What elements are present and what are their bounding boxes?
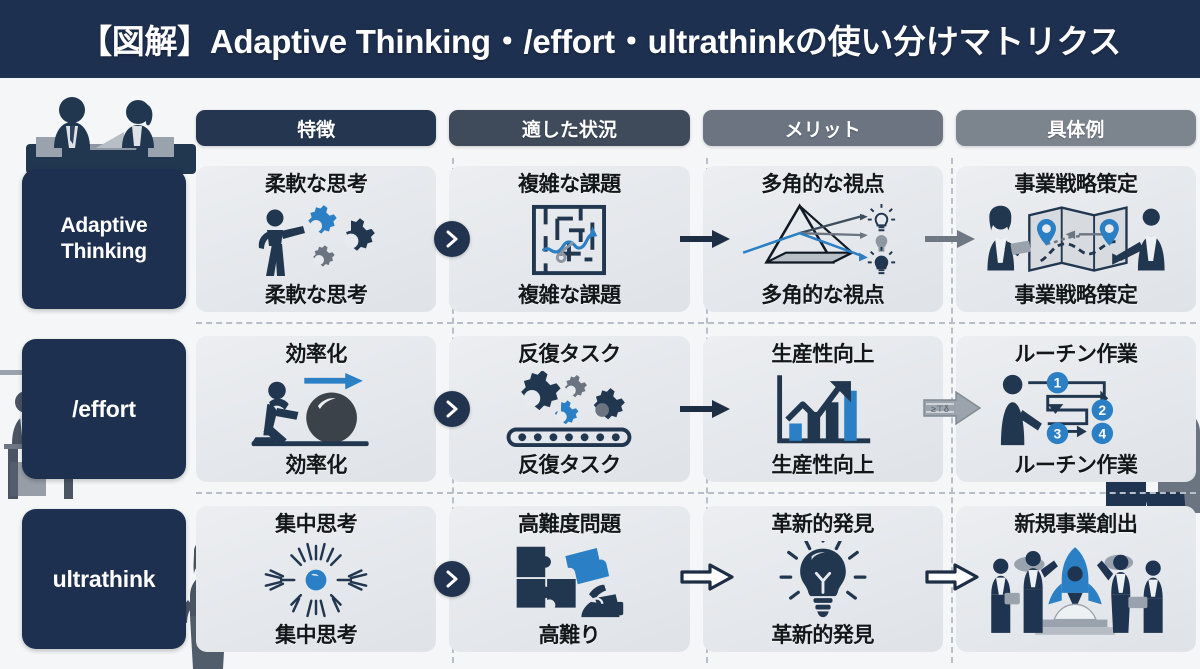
person-pushing-boulder-icon <box>200 365 432 455</box>
cell-top-label: ルーチン作業 <box>1014 344 1137 365</box>
connector-chevron-1 <box>434 221 470 257</box>
cell-bottom-label: ルーチン作業 <box>1014 455 1137 476</box>
rocket-launch-team-icon <box>960 535 1192 646</box>
row-label-effort[interactable]: /effort <box>22 339 186 479</box>
row-divider <box>196 492 1196 494</box>
solid-navy-arrow-icon <box>680 227 732 251</box>
svg-text:≥⊤δ: ≥⊤δ <box>931 404 949 414</box>
column-header-label: メリット <box>785 115 861 142</box>
workflow-steps-icon: 1 2 3 4 <box>960 365 1192 455</box>
row-label-text: AdaptiveThinking <box>60 213 147 265</box>
cell-ultrathink-features[interactable]: 集中思考 集中思考 <box>196 506 436 652</box>
column-header-label: 適した状況 <box>522 115 617 142</box>
puzzle-hand-icon <box>453 535 685 625</box>
step-number: 4 <box>1098 426 1106 441</box>
column-header-merits: メリット <box>703 110 943 146</box>
cell-adaptive-situations[interactable]: 複雑な課題 複雑な課題 <box>449 166 689 312</box>
cell-bottom-label: 高難り <box>539 625 601 646</box>
cell-bottom-label: 柔軟な思考 <box>265 285 368 306</box>
cell-top-label: 柔軟な思考 <box>265 174 368 195</box>
block-gray-arrow-icon: ≥⊤δ <box>922 388 982 428</box>
row-label-ultrathink[interactable]: ultrathink <box>22 509 186 649</box>
matrix-row-effort: /effort 効率化 <box>0 330 1200 488</box>
cell-effort-merits[interactable]: 生産性向上 生産性向上 <box>703 336 943 482</box>
column-header-label: 特徴 <box>297 115 335 142</box>
cell-top-label: 集中思考 <box>275 514 357 535</box>
connector-arrow-navy-1 <box>680 227 732 251</box>
cell-top-label: 生産性向上 <box>771 344 874 365</box>
column-header-situations: 適した状況 <box>449 110 689 146</box>
connector-arrow-navy-2 <box>680 397 732 421</box>
cell-bottom-label: 事業戦略策定 <box>1014 285 1137 306</box>
solid-gray-arrow-icon <box>925 227 977 251</box>
column-header-examples: 具体例 <box>956 110 1196 146</box>
cell-bottom-label: 集中思考 <box>275 625 357 646</box>
connector-double-arrow-3b <box>925 562 979 592</box>
chevron-right-icon <box>434 561 470 597</box>
column-header-features: 特徴 <box>196 110 436 146</box>
row-label-adaptive-thinking[interactable]: AdaptiveThinking <box>22 169 186 309</box>
title-bar: 【図解】Adaptive Thinking・/effort・ultrathink… <box>0 0 1200 78</box>
cell-bottom-label: 効率化 <box>285 455 347 476</box>
column-header-label: 具体例 <box>1047 115 1104 142</box>
cell-top-label: 効率化 <box>285 344 347 365</box>
cell-bottom-label: 多角的な視点 <box>761 285 884 306</box>
connector-arrow-gray-1 <box>925 227 977 251</box>
prism-lightbulbs-icon <box>707 195 939 285</box>
cell-top-label: 反復タスク <box>518 344 621 365</box>
cell-top-label: 事業戦略策定 <box>1014 174 1137 195</box>
connector-block-arrow-2: ≥⊤δ <box>922 388 982 428</box>
chevron-right-icon <box>434 221 470 257</box>
cell-top-label: 高難度問題 <box>518 514 621 535</box>
cell-ultrathink-situations[interactable]: 高難度問題 <box>449 506 689 652</box>
row-label-text: /effort <box>72 395 136 424</box>
cell-top-label: 多角的な視点 <box>761 174 884 195</box>
row-divider <box>196 322 1196 324</box>
lightbulb-idea-icon <box>707 535 939 625</box>
cell-top-label: 複雑な課題 <box>518 174 621 195</box>
focus-burst-icon <box>200 535 432 625</box>
person-with-gears-icon <box>200 195 432 285</box>
cell-top-label: 革新的発見 <box>771 514 874 535</box>
outline-double-arrow-icon <box>925 562 979 592</box>
bar-chart-growth-icon <box>707 365 939 455</box>
chevron-right-icon <box>434 391 470 427</box>
matrix-row-adaptive-thinking: AdaptiveThinking 柔軟な思考 <box>0 160 1200 318</box>
cell-adaptive-merits[interactable]: 多角的な視点 <box>703 166 943 312</box>
cell-bottom-label: 生産性向上 <box>771 455 874 476</box>
step-number: 2 <box>1098 403 1106 418</box>
outline-double-arrow-icon <box>680 562 734 592</box>
matrix-row-ultrathink: ultrathink 集中思考 <box>0 500 1200 658</box>
solid-navy-arrow-icon <box>680 397 732 421</box>
row-label-text: ultrathink <box>53 565 156 594</box>
cell-adaptive-features[interactable]: 柔軟な思考 <box>196 166 436 312</box>
connector-chevron-2 <box>434 391 470 427</box>
cell-effort-examples[interactable]: ルーチン作業 <box>956 336 1196 482</box>
map-route-people-icon <box>960 195 1192 285</box>
gears-conveyor-icon <box>453 365 685 455</box>
page-title: 【図解】Adaptive Thinking・/effort・ultrathink… <box>79 15 1121 63</box>
cell-ultrathink-merits[interactable]: 革新的発見 革新的発見 <box>703 506 943 652</box>
cell-top-label: 新規事業創出 <box>1014 514 1137 535</box>
cell-bottom-label: 革新的発見 <box>771 625 874 646</box>
infographic-root: 【図解】Adaptive Thinking・/effort・ultrathink… <box>0 0 1200 669</box>
connector-chevron-3 <box>434 561 470 597</box>
connector-double-arrow-3a <box>680 562 734 592</box>
cell-bottom-label: 反復タスク <box>518 455 621 476</box>
column-headers: 特徴 適した状況 メリット 具体例 <box>196 110 1196 146</box>
maze-path-icon <box>453 195 685 285</box>
cell-bottom-label: 複雑な課題 <box>518 285 621 306</box>
cell-ultrathink-examples[interactable]: 新規事業創出 <box>956 506 1196 652</box>
cell-effort-features[interactable]: 効率化 効率化 <box>196 336 436 482</box>
cell-effort-situations[interactable]: 反復タスク <box>449 336 689 482</box>
step-number: 3 <box>1054 426 1062 441</box>
step-number: 1 <box>1054 376 1062 391</box>
cell-adaptive-examples[interactable]: 事業戦略策定 <box>956 166 1196 312</box>
